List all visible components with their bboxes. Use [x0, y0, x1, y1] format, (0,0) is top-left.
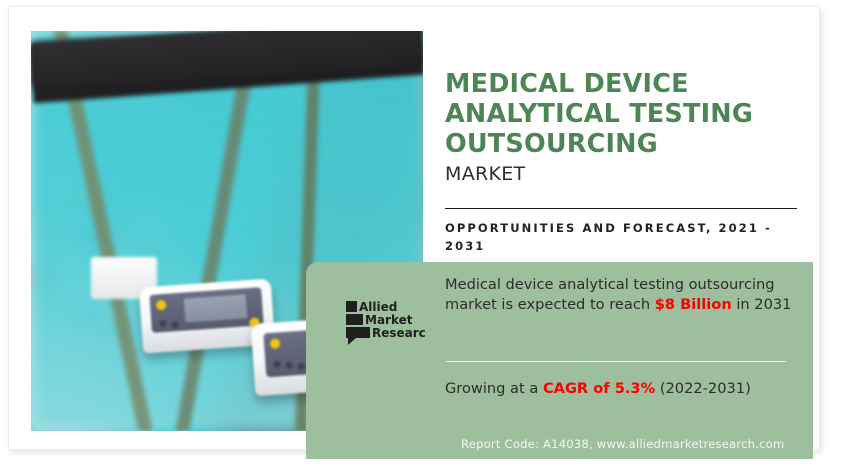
report-card: MEDICAL DEVICE ANALYTICAL TESTING OUTSOU… — [8, 6, 820, 450]
logo-line-2: Market — [365, 313, 413, 327]
market-stat-value: $8 Billion — [655, 296, 732, 313]
cagr-line: Growing at a CAGR of 5.3% (2022-2031) — [445, 379, 795, 399]
cagr-value: CAGR of 5.3% — [543, 380, 655, 397]
panel-photo-tint — [306, 262, 432, 459]
panel-divider — [446, 361, 786, 362]
market-stat-block: Medical device analytical testing outsou… — [445, 275, 795, 315]
market-stat-line: Medical device analytical testing outsou… — [445, 275, 795, 315]
logo-svg: Allied Market Research — [346, 299, 426, 345]
market-stat-suffix: in 2031 — [732, 296, 792, 313]
report-code-footer: Report Code: A14038, www.alliedmarketres… — [461, 437, 784, 451]
headline-block: MEDICAL DEVICE ANALYTICAL TESTING OUTSOU… — [445, 69, 797, 187]
logo-line-1: Allied — [359, 300, 397, 314]
page-title: MEDICAL DEVICE ANALYTICAL TESTING OUTSOU… — [445, 69, 797, 159]
cagr-prefix: Growing at a — [445, 380, 543, 397]
forecast-subhead: OPPORTUNITIES AND FORECAST, 2021 - 2031 — [445, 219, 805, 255]
cagr-suffix: (2022-2031) — [655, 380, 751, 397]
headline-divider — [445, 208, 797, 209]
balance-screen — [184, 294, 248, 322]
logo-line-3: Research — [372, 326, 426, 340]
allied-market-research-logo: Allied Market Research — [346, 299, 426, 345]
cagr-block: Growing at a CAGR of 5.3% (2022-2031) — [445, 379, 795, 399]
page-subtitle: MARKET — [445, 161, 797, 187]
